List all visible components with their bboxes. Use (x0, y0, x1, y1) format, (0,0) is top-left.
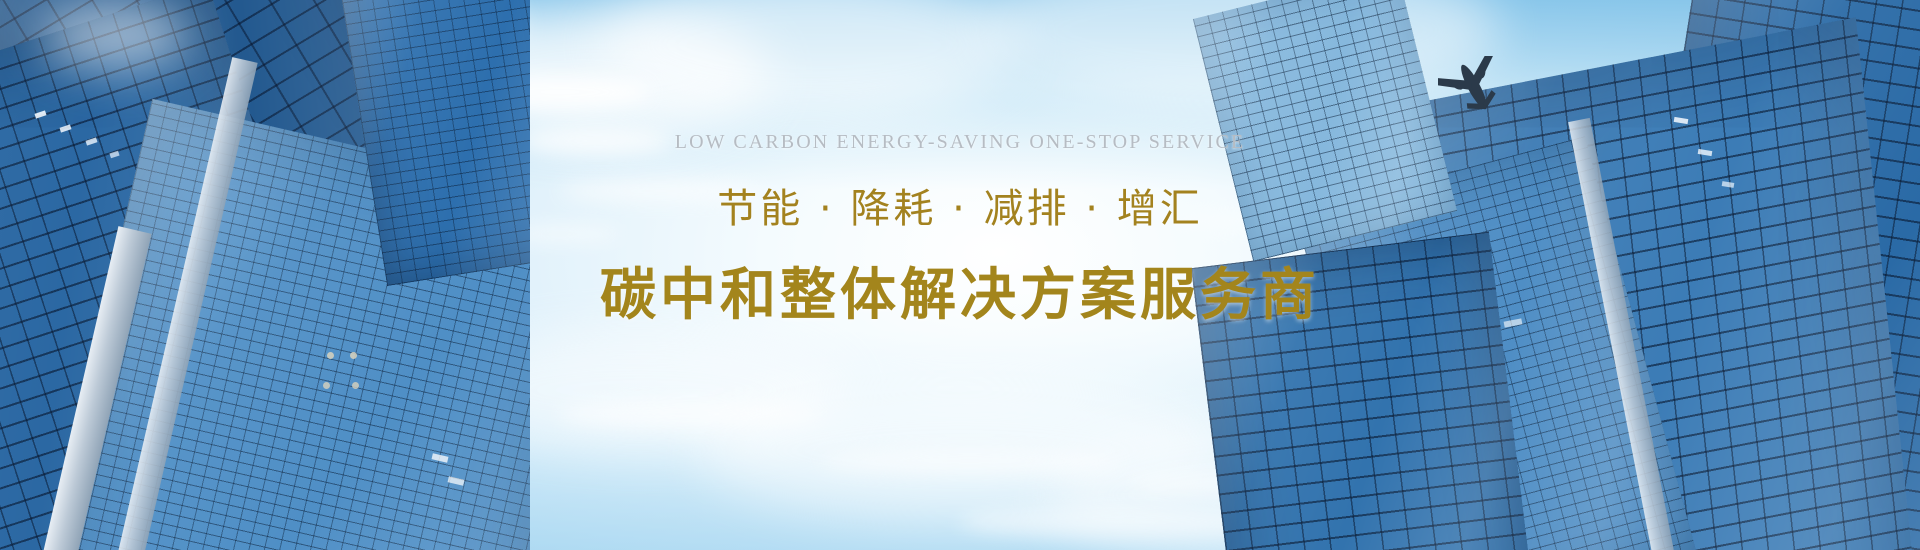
tower-right-front-block (1191, 232, 1538, 550)
glass-cloud-reflection (40, 0, 190, 70)
airplane-icon (1438, 56, 1510, 118)
right-buildings (1180, 0, 1920, 550)
hero-banner: LOW CARBON ENERGY-SAVING ONE-STOP SERVIC… (0, 0, 1920, 550)
left-buildings (0, 0, 530, 550)
